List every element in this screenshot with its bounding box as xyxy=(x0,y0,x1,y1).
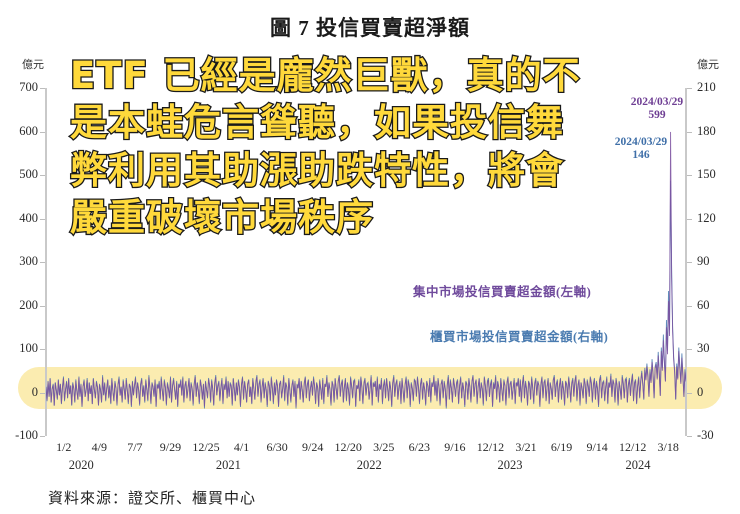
annotation-peak-right-date: 2024/03/29 xyxy=(598,136,684,149)
right-axis-tick xyxy=(687,436,692,437)
left-axis-tick xyxy=(40,436,45,437)
annotation-peak-left-date: 2024/03/29 xyxy=(614,96,700,109)
left-axis-tick-label: 200 xyxy=(4,298,38,313)
left-axis-tick xyxy=(40,393,45,394)
left-axis-tick xyxy=(40,306,45,307)
left-axis-tick xyxy=(40,349,45,350)
annotation-peak-left-value: 599 xyxy=(614,109,700,122)
right-axis-tick xyxy=(687,393,692,394)
left-axis-tick-label: 700 xyxy=(4,80,38,95)
right-axis-tick xyxy=(687,175,692,176)
right-axis-tick-label: -30 xyxy=(697,428,737,443)
x-axis-year-label: 2022 xyxy=(339,458,399,473)
left-axis-tick-label: 400 xyxy=(4,211,38,226)
right-axis-tick-label: 120 xyxy=(697,211,737,226)
legend-item-concentrated-market: 集中市場投信買賣超金額(左軸) xyxy=(413,281,591,300)
right-axis-tick-label: 150 xyxy=(697,167,737,182)
left-axis-tick-label: 100 xyxy=(4,341,38,356)
right-axis-tick xyxy=(687,262,692,263)
left-axis-tick xyxy=(40,219,45,220)
right-axis-tick-label: 0 xyxy=(697,385,737,400)
legend-item-otc-market: 櫃買市場投信買賣超金額(右軸) xyxy=(430,326,608,345)
annotation-peak-right: 2024/03/29 146 xyxy=(598,136,684,162)
source-note: 資料來源：證交所、櫃買中心 xyxy=(48,487,256,508)
left-axis-tick xyxy=(40,132,45,133)
right-axis-tick-label: 180 xyxy=(697,124,737,139)
page-title: 圖 7 投信買賣超淨額 xyxy=(0,12,740,42)
overlay-headline-text: ETF 已經是龐然巨獸，真的不是本蛙危言聳聽，如果投信舞弊利用其助漲助跌特性，將… xyxy=(70,52,600,241)
x-axis-year-label: 2021 xyxy=(198,458,258,473)
left-axis-tick xyxy=(40,262,45,263)
x-axis-year-label: 2020 xyxy=(51,458,111,473)
right-axis-tick xyxy=(687,306,692,307)
right-axis-tick xyxy=(687,88,692,89)
left-axis-tick-label: -100 xyxy=(4,428,38,443)
left-axis-tick-label: 300 xyxy=(4,254,38,269)
left-axis-tick-label: 600 xyxy=(4,124,38,139)
left-axis-tick-label: 500 xyxy=(4,167,38,182)
x-axis-year-label: 2024 xyxy=(608,458,668,473)
x-axis-tick-label: 3/18 xyxy=(645,440,691,455)
annotation-peak-left: 2024/03/29 599 xyxy=(614,96,700,122)
right-axis-tick xyxy=(687,219,692,220)
left-axis-tick xyxy=(40,88,45,89)
right-axis-tick xyxy=(687,349,692,350)
right-axis-tick-label: 210 xyxy=(697,80,737,95)
right-axis-tick-label: 90 xyxy=(697,254,737,269)
right-axis-tick-label: 30 xyxy=(697,341,737,356)
left-axis-tick xyxy=(40,175,45,176)
left-axis-tick-label: 0 xyxy=(4,385,38,400)
annotation-peak-right-value: 146 xyxy=(598,149,684,162)
x-axis-year-label: 2023 xyxy=(480,458,540,473)
chart-page: 圖 7 投信買賣超淨額 億元 億元 7006005004003002001000… xyxy=(0,0,740,514)
right-axis-tick-label: 60 xyxy=(697,298,737,313)
right-axis-unit-label: 億元 xyxy=(697,56,719,72)
left-axis-unit-label: 億元 xyxy=(22,56,44,72)
right-axis-tick xyxy=(687,132,692,133)
